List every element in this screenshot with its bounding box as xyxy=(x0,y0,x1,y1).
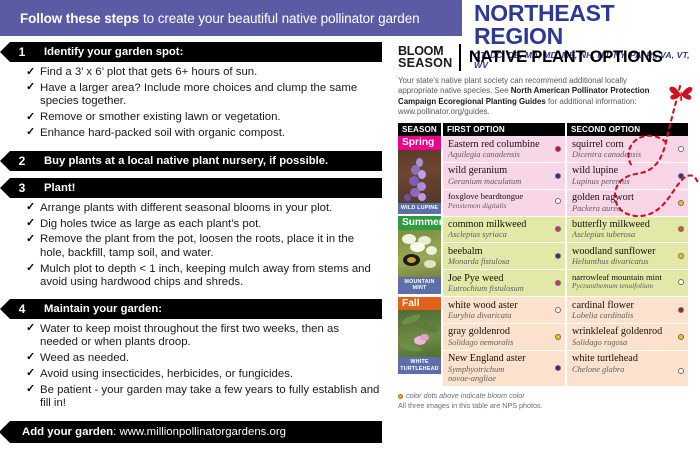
plant-common-name: white wood aster xyxy=(448,300,552,311)
table-row: Summer MOUNTAIN MINT xyxy=(398,216,688,243)
check-icon: ✓ xyxy=(26,367,35,380)
plant-cell: white turtlehead Chelone glabra xyxy=(566,350,688,386)
plant-latin-name: Eurybia divaricata xyxy=(448,311,552,320)
plant-latin-name: Symphyotrichum novae-angliae xyxy=(448,365,522,384)
bloom-color-dot xyxy=(678,368,684,374)
bloom-color-dot xyxy=(555,198,561,204)
plant-common-name: golden ragwort xyxy=(572,192,675,203)
plant-cell: Eastern red columbine Aquilegia canadens… xyxy=(442,136,566,162)
plant-common-name: butterfly milkweed xyxy=(572,219,675,230)
plant-latin-name: Penstemon digitalis xyxy=(448,202,552,210)
steps-banner: Follow these steps to create your beauti… xyxy=(0,0,462,36)
check-icon: ✓ xyxy=(26,111,35,124)
bloom-color-dot xyxy=(555,280,561,286)
step-number-3: 3 xyxy=(10,181,34,195)
plant-cell: wrinkleleaf goldenrod Solidago rugosa xyxy=(566,323,688,350)
plant-cell: foxglove beardtongue Penstemon digitalis xyxy=(442,189,566,216)
check-icon: ✓ xyxy=(26,81,35,94)
check-icon: ✓ xyxy=(26,217,35,230)
bloom-color-dot xyxy=(555,365,561,371)
column-header-first-option: FIRST OPTION xyxy=(442,123,566,136)
plant-latin-name: Pycnanthemum tenuifolium xyxy=(572,282,675,290)
bullet-item: ✓Remove or smother existing lawn or vege… xyxy=(26,111,380,124)
plant-latin-name: Lupinus perennis xyxy=(572,177,675,186)
bullet-item: ✓Remove the plant from the pot, loosen t… xyxy=(26,233,380,260)
bloom-color-dot xyxy=(678,253,684,259)
bullet-item: ✓Mulch plot to depth < 1 inch, keeping m… xyxy=(26,263,380,290)
check-icon: ✓ xyxy=(26,322,35,335)
table-header-row: SEASON FIRST OPTION SECOND OPTION xyxy=(398,123,688,136)
season-photo-spring: WILD LUPINE xyxy=(398,150,441,214)
plant-common-name: squirrel corn xyxy=(572,139,675,150)
bloom-color-dot xyxy=(678,307,684,313)
plant-latin-name: Eutrochium fistulosum xyxy=(448,284,552,293)
table-row: New England aster Symphyotrichum novae-a… xyxy=(398,350,688,386)
add-garden-url[interactable]: : www.millionpollinatorgardens.org xyxy=(113,426,286,438)
check-icon: ✓ xyxy=(26,383,35,396)
plant-options-panel: BLOOM SEASON NATIVE PLANT OPTIONS Your s… xyxy=(398,44,694,412)
plant-cell: white wood aster Eurybia divaricata xyxy=(442,297,566,324)
bloom-color-dot xyxy=(555,307,561,313)
legend-dot-icon xyxy=(398,394,403,399)
season-photo-fall: WHITE TURTLEHEAD xyxy=(398,310,441,374)
season-photo-caption-spring: WILD LUPINE xyxy=(398,203,441,214)
plant-common-name: white turtlehead xyxy=(572,353,675,364)
check-icon: ✓ xyxy=(26,126,35,139)
bullet-text: Arrange plants with different seasonal b… xyxy=(40,202,332,214)
bullet-text: Enhance hard-packed soil with organic co… xyxy=(40,127,285,139)
bloom-color-dot xyxy=(555,334,561,340)
season-cell-fall: Fall WHITE TURTLEHEAD xyxy=(398,297,442,386)
bloom-color-dot xyxy=(555,253,561,259)
table-row: Joe Pye weed Eutrochium fistulosum narro… xyxy=(398,270,688,297)
bullet-item: ✓Have a larger area? Include more choice… xyxy=(26,82,380,109)
plant-latin-name: Solidago nemoralis xyxy=(448,338,552,347)
bullet-item: ✓Arrange plants with different seasonal … xyxy=(26,202,380,215)
plant-cell: squirrel corn Dicentra canadensis xyxy=(566,136,688,162)
plant-cell: narrowleaf mountain mint Pycnanthemum te… xyxy=(566,270,688,297)
footnote-text-1: color dots above indicate bloom color xyxy=(406,391,525,400)
plant-cell: butterfly milkweed Asclepias tuberosa xyxy=(566,216,688,243)
table-row: gray goldenrod Solidago nemoralis wrinkl… xyxy=(398,323,688,350)
table-row: wild geranium Geranium maculatum wild lu… xyxy=(398,162,688,189)
check-icon: ✓ xyxy=(26,262,35,275)
bloom-color-dot xyxy=(555,173,561,179)
bloom-color-dot xyxy=(678,279,684,285)
plant-cell: New England aster Symphyotrichum novae-a… xyxy=(442,350,566,386)
plant-cell: gray goldenrod Solidago nemoralis xyxy=(442,323,566,350)
bullet-text: Avoid using insecticides, herbicides, or… xyxy=(40,368,293,380)
plant-cell: Joe Pye weed Eutrochium fistulosum xyxy=(442,270,566,297)
plant-common-name: beebalm xyxy=(448,246,552,257)
bullet-text: Mulch plot to depth < 1 inch, keeping mu… xyxy=(40,263,371,288)
steps-column: 1 Identify your garden spot: ✓Find a 3’ … xyxy=(0,42,392,443)
step-header-3: 3 Plant! xyxy=(10,178,382,198)
table-row: Spring WILD LUPINE xyxy=(398,136,688,162)
step-bullets-3: ✓Arrange plants with different seasonal … xyxy=(0,198,392,296)
plant-cell: cardinal flower Lobelia cardinalis xyxy=(566,297,688,324)
bullet-text: Remove the plant from the pot, loosen th… xyxy=(40,233,354,258)
step-title-2: Buy plants at a local native plant nurse… xyxy=(44,155,328,167)
step-number-2: 2 xyxy=(10,154,34,168)
step-title-3: Plant! xyxy=(44,182,75,194)
plant-latin-name: Asclepias tuberosa xyxy=(572,230,675,239)
bloom-color-dot xyxy=(678,200,684,206)
plant-latin-name: Aquilegia canadensis xyxy=(448,150,552,159)
season-cell-summer: Summer MOUNTAIN MINT xyxy=(398,216,442,296)
bloom-color-dot xyxy=(678,226,684,232)
plant-cell: golden ragwort Packera aurea xyxy=(566,189,688,216)
step-title-1: Identify your garden spot: xyxy=(44,46,183,58)
plant-latin-name: Geranium maculatum xyxy=(448,177,552,186)
plant-latin-name: Monarda fistulosa xyxy=(448,257,552,266)
plant-common-name: gray goldenrod xyxy=(448,326,552,337)
butterfly-icon xyxy=(668,84,694,106)
plant-options-table: SEASON FIRST OPTION SECOND OPTION Spring xyxy=(398,123,688,386)
bullet-item: ✓Water to keep moist throughout the firs… xyxy=(26,323,380,350)
table-row: beebalm Monarda fistulosa woodland sunfl… xyxy=(398,243,688,270)
plant-cell: common milkweed Asclepias syriaca xyxy=(442,216,566,243)
panel-blurb: Your state’s native plant society can re… xyxy=(398,76,650,117)
step-bullets-4: ✓Water to keep moist throughout the firs… xyxy=(0,319,392,417)
bullet-text: Have a larger area? Include more choices… xyxy=(40,82,357,107)
region-header: NORTHEAST REGION CT, DC, DE, MA, MD, ME,… xyxy=(462,0,700,40)
bloom-line-2: SEASON xyxy=(398,57,452,69)
check-icon: ✓ xyxy=(26,66,35,79)
plant-cell: beebalm Monarda fistulosa xyxy=(442,243,566,270)
step-number-1: 1 xyxy=(10,45,34,59)
table-row: Fall WHITE TURTLEHEAD white wood xyxy=(398,297,688,324)
step-header-2: 2 Buy plants at a local native plant nur… xyxy=(10,151,382,171)
bullet-item: ✓Enhance hard-packed soil with organic c… xyxy=(26,127,380,140)
step-header-4: 4 Maintain your garden: xyxy=(10,299,382,319)
step-number-4: 4 xyxy=(10,302,34,316)
plant-cell: wild geranium Geranium maculatum xyxy=(442,162,566,189)
footnote-line-2: All three images in this table are NPS p… xyxy=(398,401,694,411)
bullet-item: ✓Weed as needed. xyxy=(26,352,380,365)
step-title-4: Maintain your garden: xyxy=(44,303,162,315)
column-header-season: SEASON xyxy=(398,123,442,136)
plant-common-name: common milkweed xyxy=(448,219,552,230)
vertical-divider xyxy=(459,44,461,71)
plant-common-name: wild lupine xyxy=(572,165,675,176)
bullet-text: Weed as needed. xyxy=(40,352,129,364)
bloom-color-dot xyxy=(555,146,561,152)
plant-latin-name: Chelone glabra xyxy=(572,365,675,374)
plant-common-name: cardinal flower xyxy=(572,300,675,311)
bloom-color-dot xyxy=(678,146,684,152)
plant-latin-name: Packera aurea xyxy=(572,204,675,213)
bullet-item: ✓Be patient - your garden may take a few… xyxy=(26,384,380,411)
plant-cell: woodland sunflower Helianthus divaricatu… xyxy=(566,243,688,270)
steps-banner-lead: Follow these steps xyxy=(20,11,139,26)
bloom-color-dot xyxy=(555,226,561,232)
plant-latin-name: Lobelia cardinalis xyxy=(572,311,675,320)
check-icon: ✓ xyxy=(26,233,35,246)
bloom-color-dot xyxy=(678,334,684,340)
plant-latin-name: Dicentra canadensis xyxy=(572,150,675,159)
panel-title: NATIVE PLANT OPTIONS xyxy=(469,44,663,67)
bullet-item: ✓Dig holes twice as large as each plant’… xyxy=(26,218,380,231)
plant-common-name: wrinkleleaf goldenrod xyxy=(572,326,675,337)
bullet-text: Be patient - your garden may take a few … xyxy=(40,384,379,409)
bloom-season-label: BLOOM SEASON xyxy=(398,44,459,70)
plant-latin-name: Asclepias syriaca xyxy=(448,230,552,239)
bullet-text: Find a 3’ x 6’ plot that gets 6+ hours o… xyxy=(40,66,257,78)
footnote-line-1: color dots above indicate bloom color xyxy=(398,391,694,401)
season-photo-caption-summer: MOUNTAIN MINT xyxy=(398,277,441,294)
column-header-second-option: SECOND OPTION xyxy=(566,123,688,136)
bullet-text: Water to keep moist throughout the first… xyxy=(40,323,339,348)
bullet-text: Dig holes twice as large as each plant’s… xyxy=(40,218,261,230)
plant-latin-name: Helianthus divaricatus xyxy=(572,257,675,266)
season-photo-caption-fall: WHITE TURTLEHEAD xyxy=(398,357,441,374)
plant-cell: wild lupine Lupinus perennis xyxy=(566,162,688,189)
steps-banner-rest: to create your beautiful native pollinat… xyxy=(143,11,420,26)
plant-common-name: wild geranium xyxy=(448,165,552,176)
plant-latin-name: Solidago rugosa xyxy=(572,338,675,347)
header-row: Follow these steps to create your beauti… xyxy=(0,0,700,40)
season-photo-summer: MOUNTAIN MINT xyxy=(398,230,441,294)
region-title: NORTHEAST REGION xyxy=(474,2,700,49)
plant-common-name: Eastern red columbine xyxy=(448,139,552,150)
step-header-1: 1 Identify your garden spot: xyxy=(10,42,382,62)
check-icon: ✓ xyxy=(26,351,35,364)
season-cell-spring: Spring WILD LUPINE xyxy=(398,136,442,216)
add-garden-label: Add your garden xyxy=(22,426,113,438)
season-label-fall: Fall xyxy=(398,297,441,311)
bullet-text: Remove or smother existing lawn or veget… xyxy=(40,111,281,123)
check-icon: ✓ xyxy=(26,201,35,214)
plant-common-name: woodland sunflower xyxy=(572,246,675,257)
table-row: foxglove beardtongue Penstemon digitalis… xyxy=(398,189,688,216)
plant-common-name: New England aster xyxy=(448,353,552,364)
bullet-item: ✓Find a 3’ x 6’ plot that gets 6+ hours … xyxy=(26,66,380,79)
season-label-spring: Spring xyxy=(398,136,441,150)
bullet-item: ✓Avoid using insecticides, herbicides, o… xyxy=(26,368,380,381)
bloom-color-dot xyxy=(678,173,684,179)
season-label-summer: Summer xyxy=(398,216,441,230)
plant-common-name: Joe Pye weed xyxy=(448,273,552,284)
panel-header: BLOOM SEASON NATIVE PLANT OPTIONS xyxy=(398,44,694,71)
step-bullets-1: ✓Find a 3’ x 6’ plot that gets 6+ hours … xyxy=(0,62,392,147)
table-footnote: color dots above indicate bloom color Al… xyxy=(398,391,694,412)
add-garden-bar[interactable]: Add your garden: www.millionpollinatorga… xyxy=(10,421,382,443)
